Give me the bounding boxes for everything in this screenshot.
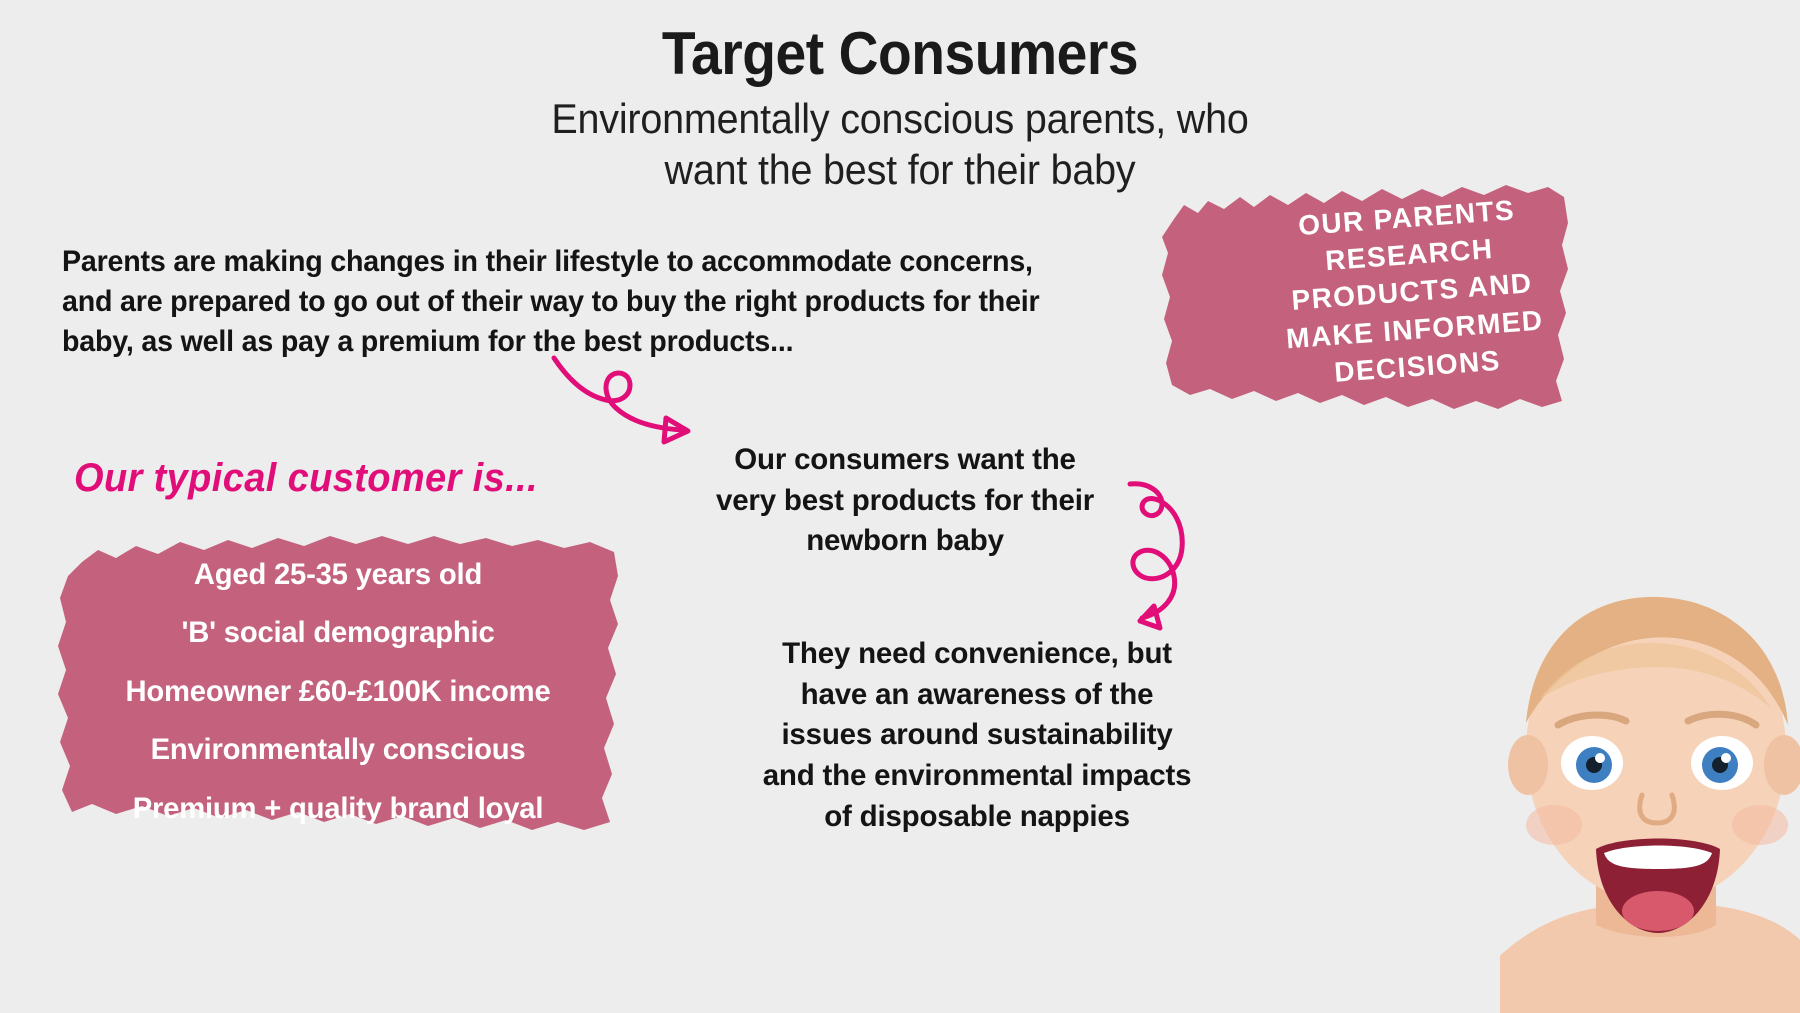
list-item: Homeowner £60-£100K income [65,662,611,721]
statement-convenience-line-3: issues around sustainability [742,715,1212,756]
statement-best-products-line-1: Our consumers want the [700,440,1110,481]
intro-line-1: Parents are making changes in their life… [62,242,1119,282]
research-badge-text: OUR PARENTS RESEARCH PRODUCTS AND MAKE I… [1256,188,1569,396]
subtitle-line-1: Environmentally conscious parents, who [54,93,1746,144]
subtitle: Environmentally conscious parents, who w… [54,93,1746,195]
list-item: Premium + quality brand loyal [65,779,611,838]
statement-convenience: They need convenience, but have an aware… [742,634,1212,838]
statement-best-products-line-3: newborn baby [700,521,1110,562]
statement-convenience-line-4: and the environmental impacts [742,756,1212,797]
smiling-baby-photo [1500,573,1800,1013]
page-title: Target Consumers Environmentally conscio… [0,22,1800,195]
statement-best-products-line-2: very best products for their [700,481,1110,522]
customer-profile-list: Aged 25-35 years old 'B' social demograp… [62,545,614,838]
customer-profile-heading: Our typical customer is... [74,456,538,501]
main-title: Target Consumers [72,22,1728,85]
list-item: Environmentally conscious [65,721,611,780]
statement-convenience-line-2: have an awareness of the [742,675,1212,716]
curly-arrow-down-right-icon [548,352,708,462]
intro-paragraph: Parents are making changes in their life… [62,242,1119,361]
slide-canvas: Target Consumers Environmentally conscio… [0,0,1800,1013]
statement-convenience-line-5: of disposable nappies [742,797,1212,838]
list-item: 'B' social demographic [65,604,611,663]
statement-best-products: Our consumers want the very best product… [700,440,1110,562]
curly-arrow-down-left-icon [1108,478,1203,638]
statement-convenience-line-1: They need convenience, but [742,634,1212,675]
list-item: Aged 25-35 years old [65,545,611,604]
intro-line-2: and are prepared to go out of their way … [62,282,1119,322]
